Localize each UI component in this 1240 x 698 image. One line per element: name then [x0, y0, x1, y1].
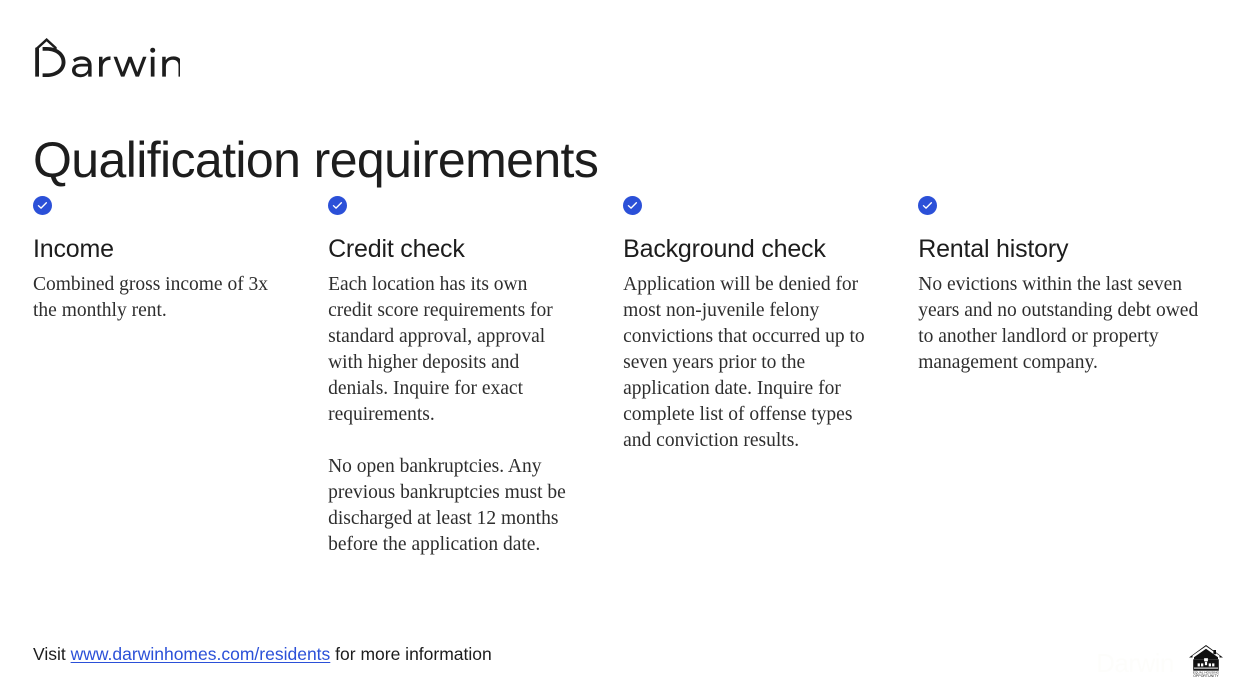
- check-circle-icon: [328, 196, 347, 215]
- watermark-wordmark: Darwin: [1096, 648, 1174, 678]
- footer-marks: Darwin: [1096, 644, 1224, 678]
- requirement-column-credit-check: Credit check Each location has its own c…: [328, 196, 623, 558]
- column-title: Rental history: [918, 234, 1205, 264]
- check-circle-icon: [623, 196, 642, 215]
- footer: Visit www.darwinhomes.com/residents for …: [0, 610, 1240, 698]
- column-paragraph: Combined gross income of 3x the monthly …: [33, 272, 280, 324]
- page-title: Qualification requirements: [33, 128, 598, 192]
- column-paragraph: Application will be denied for most non-…: [623, 272, 870, 454]
- check-circle-icon: [918, 196, 937, 215]
- requirements-columns: Income Combined gross income of 3x the m…: [33, 196, 1213, 558]
- requirement-column-income: Income Combined gross income of 3x the m…: [33, 196, 328, 558]
- residents-link[interactable]: www.darwinhomes.com/residents: [71, 644, 331, 664]
- column-title: Income: [33, 234, 280, 264]
- column-title: Background check: [623, 234, 870, 264]
- equal-housing-opportunity-icon: EQUAL HOUSING OPPORTUNITY: [1188, 644, 1224, 678]
- footer-visit-text: Visit www.darwinhomes.com/residents for …: [33, 643, 492, 665]
- column-title: Credit check: [328, 234, 575, 264]
- requirement-column-rental-history: Rental history No evictions within the l…: [918, 196, 1213, 558]
- footer-prefix: Visit: [33, 644, 71, 664]
- column-paragraph: No evictions within the last seven years…: [918, 272, 1205, 376]
- footer-suffix: for more information: [330, 644, 491, 664]
- darwin-logo: [33, 33, 180, 83]
- requirement-column-background-check: Background check Application will be den…: [623, 196, 918, 558]
- darwin-house-d-logo-icon: [33, 35, 180, 81]
- column-paragraph: No open bankruptcies. Any previous bankr…: [328, 454, 575, 558]
- column-paragraph: Each location has its own credit score r…: [328, 272, 575, 428]
- check-circle-icon: [33, 196, 52, 215]
- svg-text:OPPORTUNITY: OPPORTUNITY: [1193, 674, 1219, 678]
- slide-root: Qualification requirements Income Combin…: [0, 0, 1240, 698]
